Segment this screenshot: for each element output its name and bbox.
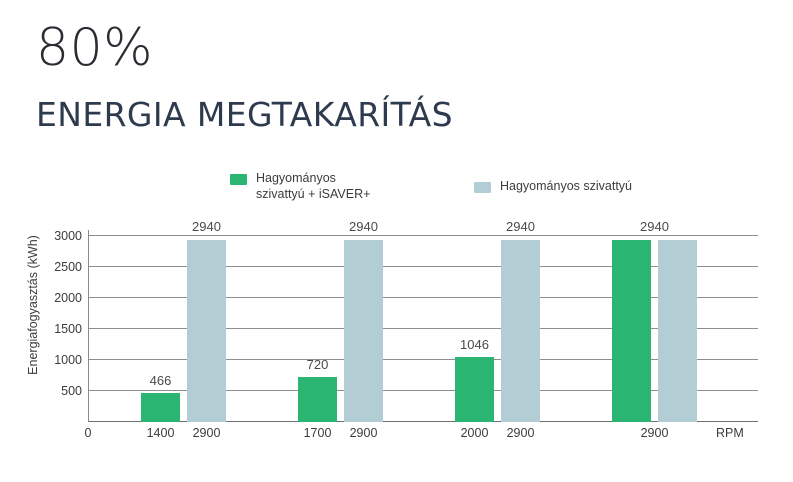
y-tick-label-1500: 1500 (22, 323, 82, 335)
x-tick-label-7: 2900 (612, 426, 697, 440)
legend-label-isaver: Hagyományos szivattyú + iSAVER+ (256, 170, 370, 202)
x-tick-label-2: 2900 (187, 426, 226, 440)
x-axis-ticks: 01400290017002900200029002900 (88, 426, 758, 450)
energy-saving-infographic: 80% ENERGIA MEGTAKARÍTÁS Hagyományos szi… (0, 0, 793, 482)
bar-value-label-traditional-2: 2940 (501, 220, 540, 234)
x-tick-label-5: 2000 (455, 426, 494, 440)
bar-isaver-3 (612, 240, 651, 422)
legend-item-isaver: Hagyományos szivattyú + iSAVER+ (230, 170, 370, 202)
bar-traditional-1 (344, 240, 383, 422)
x-tick-label-6: 2900 (501, 426, 540, 440)
y-tick-label-2500: 2500 (22, 261, 82, 273)
legend-swatch-green-icon (230, 174, 247, 185)
x-axis-unit-label: RPM (716, 426, 744, 440)
chart-legend: Hagyományos szivattyú + iSAVER+ Hagyomán… (0, 170, 793, 212)
page-title: ENERGIA MEGTAKARÍTÁS (36, 96, 453, 134)
bar-isaver-2 (455, 357, 494, 422)
x-tick-label-0: 0 (68, 426, 108, 440)
y-tick-label-1000: 1000 (22, 354, 82, 366)
legend-label-traditional: Hagyományos szivattyú (500, 178, 632, 194)
chart-bars: 46629407202940104629402940 (88, 230, 758, 422)
bar-traditional-2 (501, 240, 540, 422)
bar-value-label-isaver-0: 466 (141, 374, 180, 388)
bar-value-label-traditional-0: 2940 (187, 220, 226, 234)
y-axis-ticks: 50010001500200025003000 (20, 230, 82, 422)
bar-chart: Energiafogyasztás (kWh) 5001000150020002… (0, 222, 793, 472)
bar-isaver-0 (141, 393, 180, 422)
legend-item-traditional: Hagyományos szivattyú (474, 178, 632, 194)
bar-value-label-isaver-1: 720 (298, 358, 337, 372)
bar-value-label-group-3: 2940 (612, 220, 697, 234)
headline-percentage: 80% (36, 20, 153, 76)
bar-value-label-isaver-2: 1046 (455, 338, 494, 352)
bar-traditional-3 (658, 240, 697, 422)
y-tick-label-500: 500 (22, 385, 82, 397)
bar-traditional-0 (187, 240, 226, 422)
y-tick-label-2000: 2000 (22, 292, 82, 304)
bar-isaver-1 (298, 377, 337, 422)
y-tick-label-3000: 3000 (22, 230, 82, 242)
legend-swatch-blue-icon (474, 182, 491, 193)
bar-value-label-traditional-1: 2940 (344, 220, 383, 234)
x-tick-label-3: 1700 (298, 426, 337, 440)
x-tick-label-1: 1400 (141, 426, 180, 440)
x-tick-label-4: 2900 (344, 426, 383, 440)
